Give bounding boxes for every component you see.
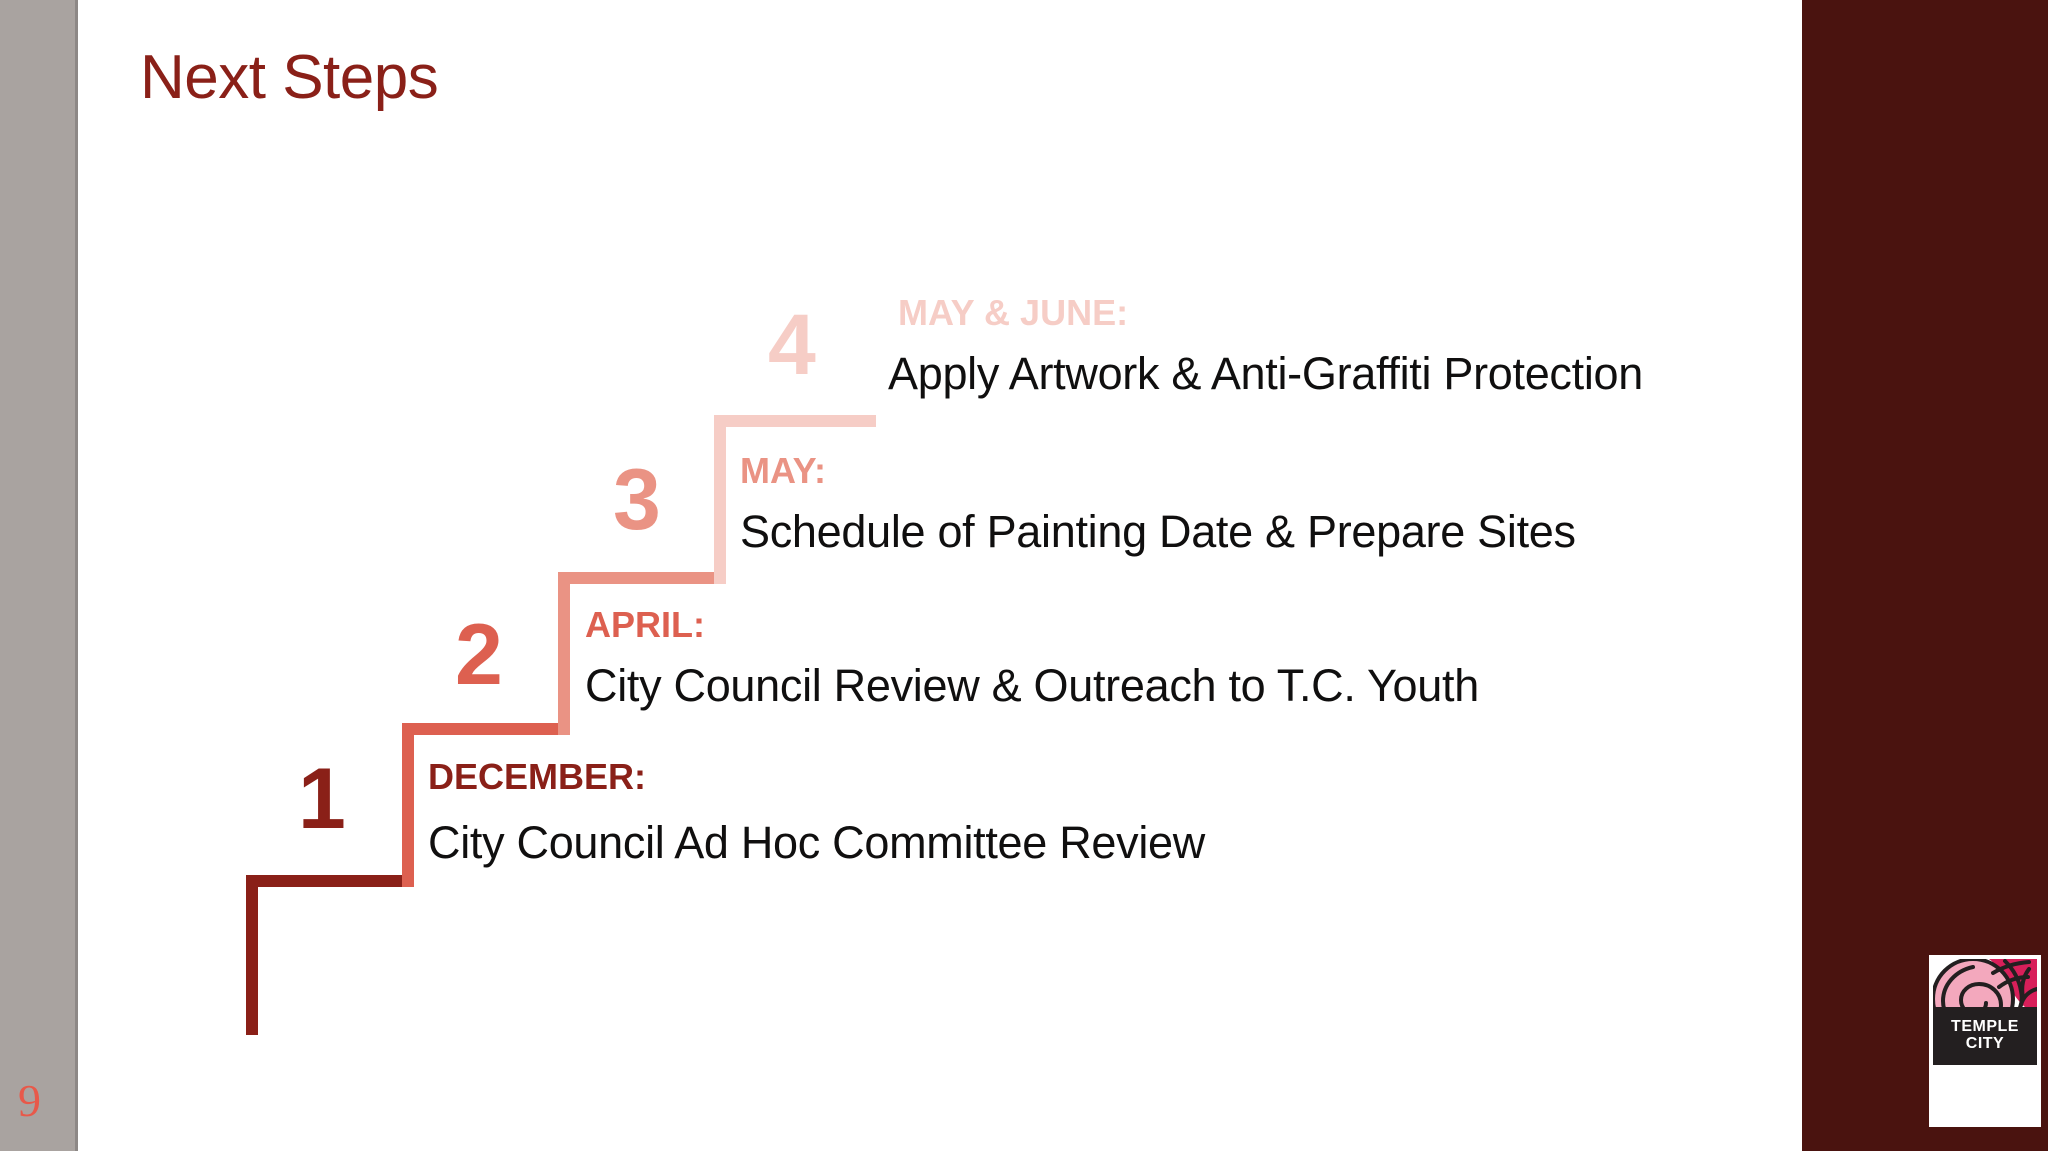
step-1-number: 1 — [298, 756, 344, 842]
step-2-number: 2 — [455, 612, 501, 698]
temple-city-logo: TEMPLE CITY — [1929, 955, 2041, 1127]
step-2-description: City Council Review & Outreach to T.C. Y… — [585, 660, 1479, 712]
stair-step-1-riser — [246, 875, 258, 1035]
temple-city-rose-icon: TEMPLE CITY — [1933, 959, 2037, 1065]
step-3-month: MAY: — [740, 450, 826, 492]
step-4-description: Apply Artwork & Anti-Graffiti Protection — [888, 348, 1643, 400]
left-accent-band-edge — [75, 0, 78, 1151]
step-3-description: Schedule of Painting Date & Prepare Site… — [740, 506, 1576, 558]
stair-step-4-riser — [714, 415, 726, 584]
stair-step-3-riser — [558, 572, 570, 735]
stair-step-2-tread — [402, 723, 570, 735]
step-4-number: 4 — [768, 302, 814, 388]
step-2-month: APRIL: — [585, 604, 705, 646]
page-title: Next Steps — [140, 42, 438, 113]
step-1-description: City Council Ad Hoc Committee Review — [428, 817, 1205, 869]
logo-line-2: CITY — [1966, 1036, 2004, 1053]
page-number: 9 — [18, 1078, 41, 1124]
step-4-month: MAY & JUNE: — [898, 292, 1128, 334]
stair-step-1-tread — [246, 875, 414, 887]
stair-step-3-tread — [558, 572, 726, 584]
left-accent-band — [0, 0, 75, 1151]
step-3-number: 3 — [613, 457, 659, 543]
logo-line-1: TEMPLE — [1951, 1019, 2019, 1036]
stair-step-2-riser — [402, 723, 414, 887]
slide-canvas: 9 Next Steps 1 DECEMBER: City Council Ad… — [0, 0, 2048, 1151]
stair-step-4-tread — [714, 415, 876, 427]
step-1-month: DECEMBER: — [428, 756, 646, 798]
temple-city-logo-wordmark: TEMPLE CITY — [1933, 1007, 2037, 1065]
